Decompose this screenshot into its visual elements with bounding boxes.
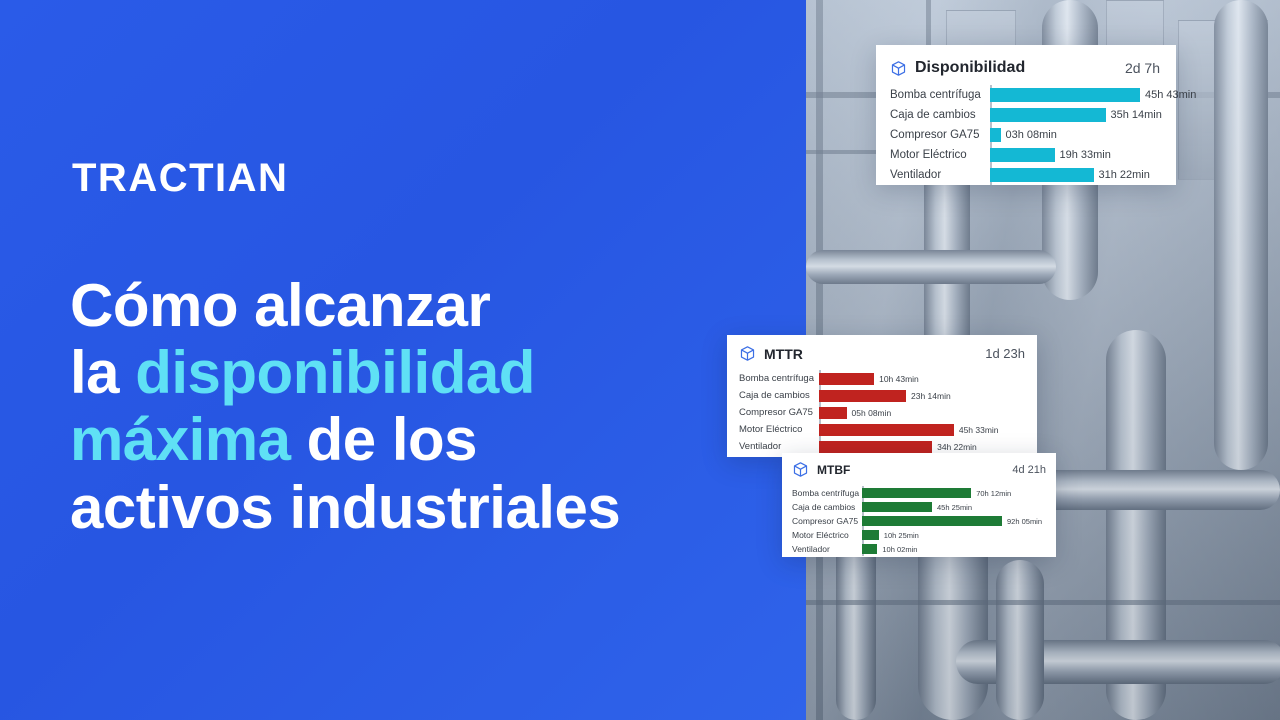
kpi-row-value: 23h 14min [911, 391, 951, 401]
page-title: Cómo alcanzar la disponibilidad máxima d… [70, 272, 770, 541]
kpi-row-label: Compresor GA75 [890, 129, 990, 141]
kpi-row-bar [862, 488, 971, 498]
kpi-row-value: 10h 02min [882, 545, 917, 554]
card-total-value: 4d 21h [1012, 464, 1046, 476]
kpi-row-list: Bomba centrífuga10h 43minCaja de cambios… [739, 370, 1025, 455]
kpi-row-value: 34h 22min [937, 442, 977, 452]
headline-line-2-plain: la [70, 339, 135, 406]
headline-line-2: la disponibilidad [70, 339, 770, 406]
card-header: MTBF 4d 21h [792, 461, 1046, 478]
kpi-row-bar [862, 516, 1002, 526]
kpi-row-list: Bomba centrífuga45h 43minCaja de cambios… [890, 85, 1160, 185]
kpi-row: Ventilador31h 22min [890, 165, 1160, 185]
kpi-row-track: 31h 22min [990, 166, 1160, 184]
kpi-row-bar [990, 148, 1055, 162]
left-brand-panel: TRACTIAN Cómo alcanzar la disponibilidad… [0, 0, 806, 720]
card-disponibilidad[interactable]: Disponibilidad 2d 7h Bomba centrífuga45h… [876, 45, 1176, 185]
kpi-row-bar [819, 441, 932, 453]
kpi-row-track: 35h 14min [990, 106, 1162, 124]
kpi-row-bar [819, 390, 906, 402]
kpi-row-bar [990, 108, 1106, 122]
kpi-row-label: Ventilador [739, 441, 819, 452]
kpi-row: Motor Eléctrico19h 33min [890, 145, 1160, 165]
kpi-row-value: 05h 08min [852, 408, 892, 418]
kpi-row-track: 23h 14min [819, 387, 1025, 405]
kpi-row-list: Bomba centrífuga70h 12minCaja de cambios… [792, 486, 1046, 556]
kpi-row-value: 03h 08min [1006, 129, 1057, 141]
kpi-row: Ventilador10h 02min [792, 542, 1046, 556]
kpi-row-value: 70h 12min [976, 489, 1011, 498]
kpi-row-label: Motor Eléctrico [792, 530, 862, 540]
kpi-row-track: 10h 02min [862, 540, 1046, 558]
card-header: Disponibilidad 2d 7h [890, 59, 1160, 77]
kpi-row-bar [862, 530, 879, 540]
kpi-row-bar [862, 502, 932, 512]
kpi-row-value: 92h 05min [1007, 517, 1042, 526]
kpi-row-track: 45h 43min [990, 86, 1196, 104]
kpi-row-label: Compresor GA75 [739, 407, 819, 418]
kpi-row-label: Bomba centrífuga [792, 488, 862, 498]
kpi-row: Caja de cambios23h 14min [739, 387, 1025, 404]
card-header: MTTR 1d 23h [739, 345, 1025, 362]
slide-canvas: TRACTIAN Cómo alcanzar la disponibilidad… [0, 0, 1280, 720]
card-mttr[interactable]: MTTR 1d 23h Bomba centrífuga10h 43minCaj… [727, 335, 1037, 457]
kpi-row-value: 31h 22min [1099, 169, 1150, 181]
kpi-row-track: 19h 33min [990, 146, 1160, 164]
card-title: MTBF [817, 463, 850, 477]
tractian-logo: TRACTIAN [72, 156, 288, 201]
card-total-value: 1d 23h [985, 346, 1025, 361]
headline-line-3-plain: de los [290, 406, 477, 473]
kpi-row-label: Ventilador [890, 169, 990, 181]
kpi-row: Compresor GA7505h 08min [739, 404, 1025, 421]
kpi-row-label: Ventilador [792, 544, 862, 554]
kpi-row-label: Caja de cambios [739, 390, 819, 401]
kpi-row-value: 45h 43min [1145, 89, 1196, 101]
kpi-row-track: 03h 08min [990, 126, 1160, 144]
card-title: Disponibilidad [915, 59, 1025, 77]
kpi-row-bar [819, 407, 847, 419]
headline-line-4: activos industriales [70, 474, 770, 541]
kpi-row-value: 10h 43min [879, 374, 919, 384]
kpi-row: Compresor GA7503h 08min [890, 125, 1160, 145]
cube-icon [792, 461, 809, 478]
kpi-row-label: Bomba centrífuga [890, 89, 990, 101]
kpi-row: Bomba centrífuga45h 43min [890, 85, 1160, 105]
headline-line-3: máxima de los [70, 406, 770, 473]
kpi-row: Bomba centrífuga10h 43min [739, 370, 1025, 387]
card-mtbf[interactable]: MTBF 4d 21h Bomba centrífuga70h 12minCaj… [782, 453, 1056, 557]
headline-highlight-maxima: máxima [70, 406, 290, 473]
kpi-row-label: Motor Eléctrico [890, 149, 990, 161]
kpi-row-bar [862, 544, 877, 554]
kpi-row-label: Caja de cambios [890, 109, 990, 121]
kpi-row: Caja de cambios35h 14min [890, 105, 1160, 125]
kpi-row-value: 35h 14min [1111, 109, 1162, 121]
card-title: MTTR [764, 346, 803, 362]
cube-icon [890, 60, 907, 77]
kpi-row-bar [819, 424, 954, 436]
kpi-row-bar [819, 373, 874, 385]
kpi-row-track: 05h 08min [819, 404, 1025, 422]
kpi-row: Motor Eléctrico45h 33min [739, 421, 1025, 438]
kpi-row-value: 45h 25min [937, 503, 972, 512]
kpi-row-label: Bomba centrífuga [739, 373, 819, 384]
headline-line-1: Cómo alcanzar [70, 272, 770, 339]
kpi-row-track: 45h 33min [819, 421, 1025, 439]
kpi-row-label: Caja de cambios [792, 502, 862, 512]
kpi-row-bar [990, 88, 1140, 102]
headline-highlight-disponibilidad: disponibilidad [135, 339, 535, 406]
cube-icon [739, 345, 756, 362]
kpi-row-value: 19h 33min [1060, 149, 1111, 161]
kpi-row-value: 10h 25min [884, 531, 919, 540]
kpi-row-bar [990, 128, 1001, 142]
kpi-row-label: Motor Eléctrico [739, 424, 819, 435]
kpi-row-bar [990, 168, 1094, 182]
kpi-row-label: Compresor GA75 [792, 516, 862, 526]
card-total-value: 2d 7h [1125, 60, 1160, 76]
kpi-row-track: 10h 43min [819, 370, 1025, 388]
kpi-row-value: 45h 33min [959, 425, 999, 435]
